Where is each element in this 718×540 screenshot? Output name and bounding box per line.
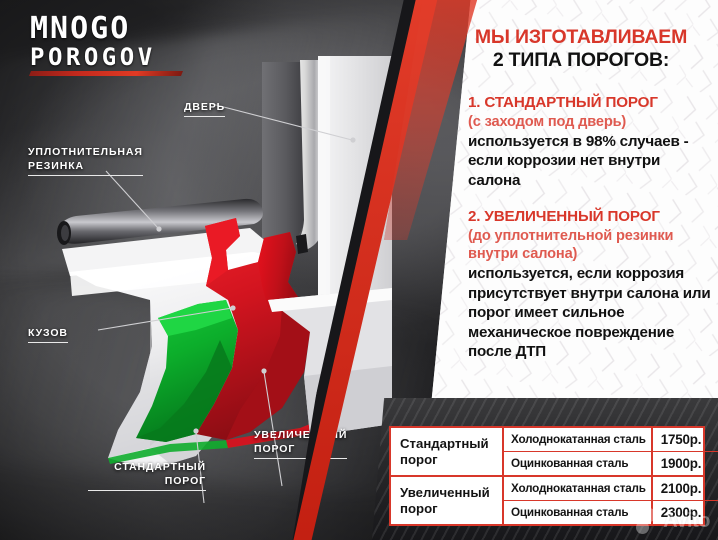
price-material: Холоднокатанная сталь [504, 428, 653, 451]
callout-label-standard-sill: СТАНДАРТНЫЙ ПОРОГ [88, 460, 206, 491]
callout-label-door: ДВЕРЬ [184, 100, 225, 117]
sill-type-block-standard: 1. СТАНДАРТНЫЙ ПОРОГ (с заходом под двер… [468, 94, 712, 191]
block-2-body: используется, если коррозия присутствует… [468, 264, 712, 362]
price-value: 2300р. [653, 501, 718, 524]
price-row: Холоднокатанная сталь 2100р. [504, 477, 718, 501]
price-group-name: Стандартный порог [391, 428, 504, 475]
block-2-subtitle: (до уплотнительной резинки внутри салона… [468, 227, 712, 263]
price-value: 2100р. [653, 477, 718, 500]
price-row: Холоднокатанная сталь 1750р. [504, 428, 718, 452]
callout-label-body: КУЗОВ [28, 326, 68, 343]
price-row: Оцинкованная сталь 1900р. [504, 452, 718, 475]
block-2-title: 2. УВЕЛИЧЕННЫЙ ПОРОГ [468, 208, 712, 227]
door-outer-skin [262, 62, 305, 252]
callout-label-rubber-seal: УПЛОТНИТЕЛЬНАЯ РЕЗИНКА [28, 145, 143, 176]
promo-image: MNOGO POROGOV [0, 0, 718, 540]
price-material: Оцинкованная сталь [504, 452, 653, 475]
headline: МЫ ИЗГОТАВЛИВАЕМ 2 ТИПА ПОРОГОВ: [455, 26, 707, 72]
price-group-extended: Увеличенный порог Холоднокатанная сталь … [391, 477, 703, 524]
headline-line2: 2 ТИПА ПОРОГОВ: [455, 49, 707, 72]
price-material: Холоднокатанная сталь [504, 477, 653, 500]
price-table: Стандартный порог Холоднокатанная сталь … [389, 426, 705, 526]
price-group-standard: Стандартный порог Холоднокатанная сталь … [391, 428, 703, 477]
sill-fastener [296, 234, 308, 254]
sill-type-block-extended: 2. УВЕЛИЧЕННЫЙ ПОРОГ (до уплотнительной … [468, 208, 712, 362]
block-1-body: используется в 98% случаев - если корроз… [468, 132, 712, 191]
block-1-title: 1. СТАНДАРТНЫЙ ПОРОГ [468, 94, 712, 113]
headline-line1: МЫ ИЗГОТАВЛИВАЕМ [455, 26, 707, 49]
rubber-seal-bore [61, 225, 69, 241]
price-value: 1750р. [653, 428, 718, 451]
block-1-subtitle: (с заходом под дверь) [468, 113, 712, 131]
price-material: Оцинкованная сталь [504, 501, 653, 524]
price-value: 1900р. [653, 452, 718, 475]
door-panel-highlight [318, 56, 330, 300]
price-row: Оцинкованная сталь 2300р. [504, 501, 718, 524]
price-group-name: Увеличенный порог [391, 477, 504, 524]
